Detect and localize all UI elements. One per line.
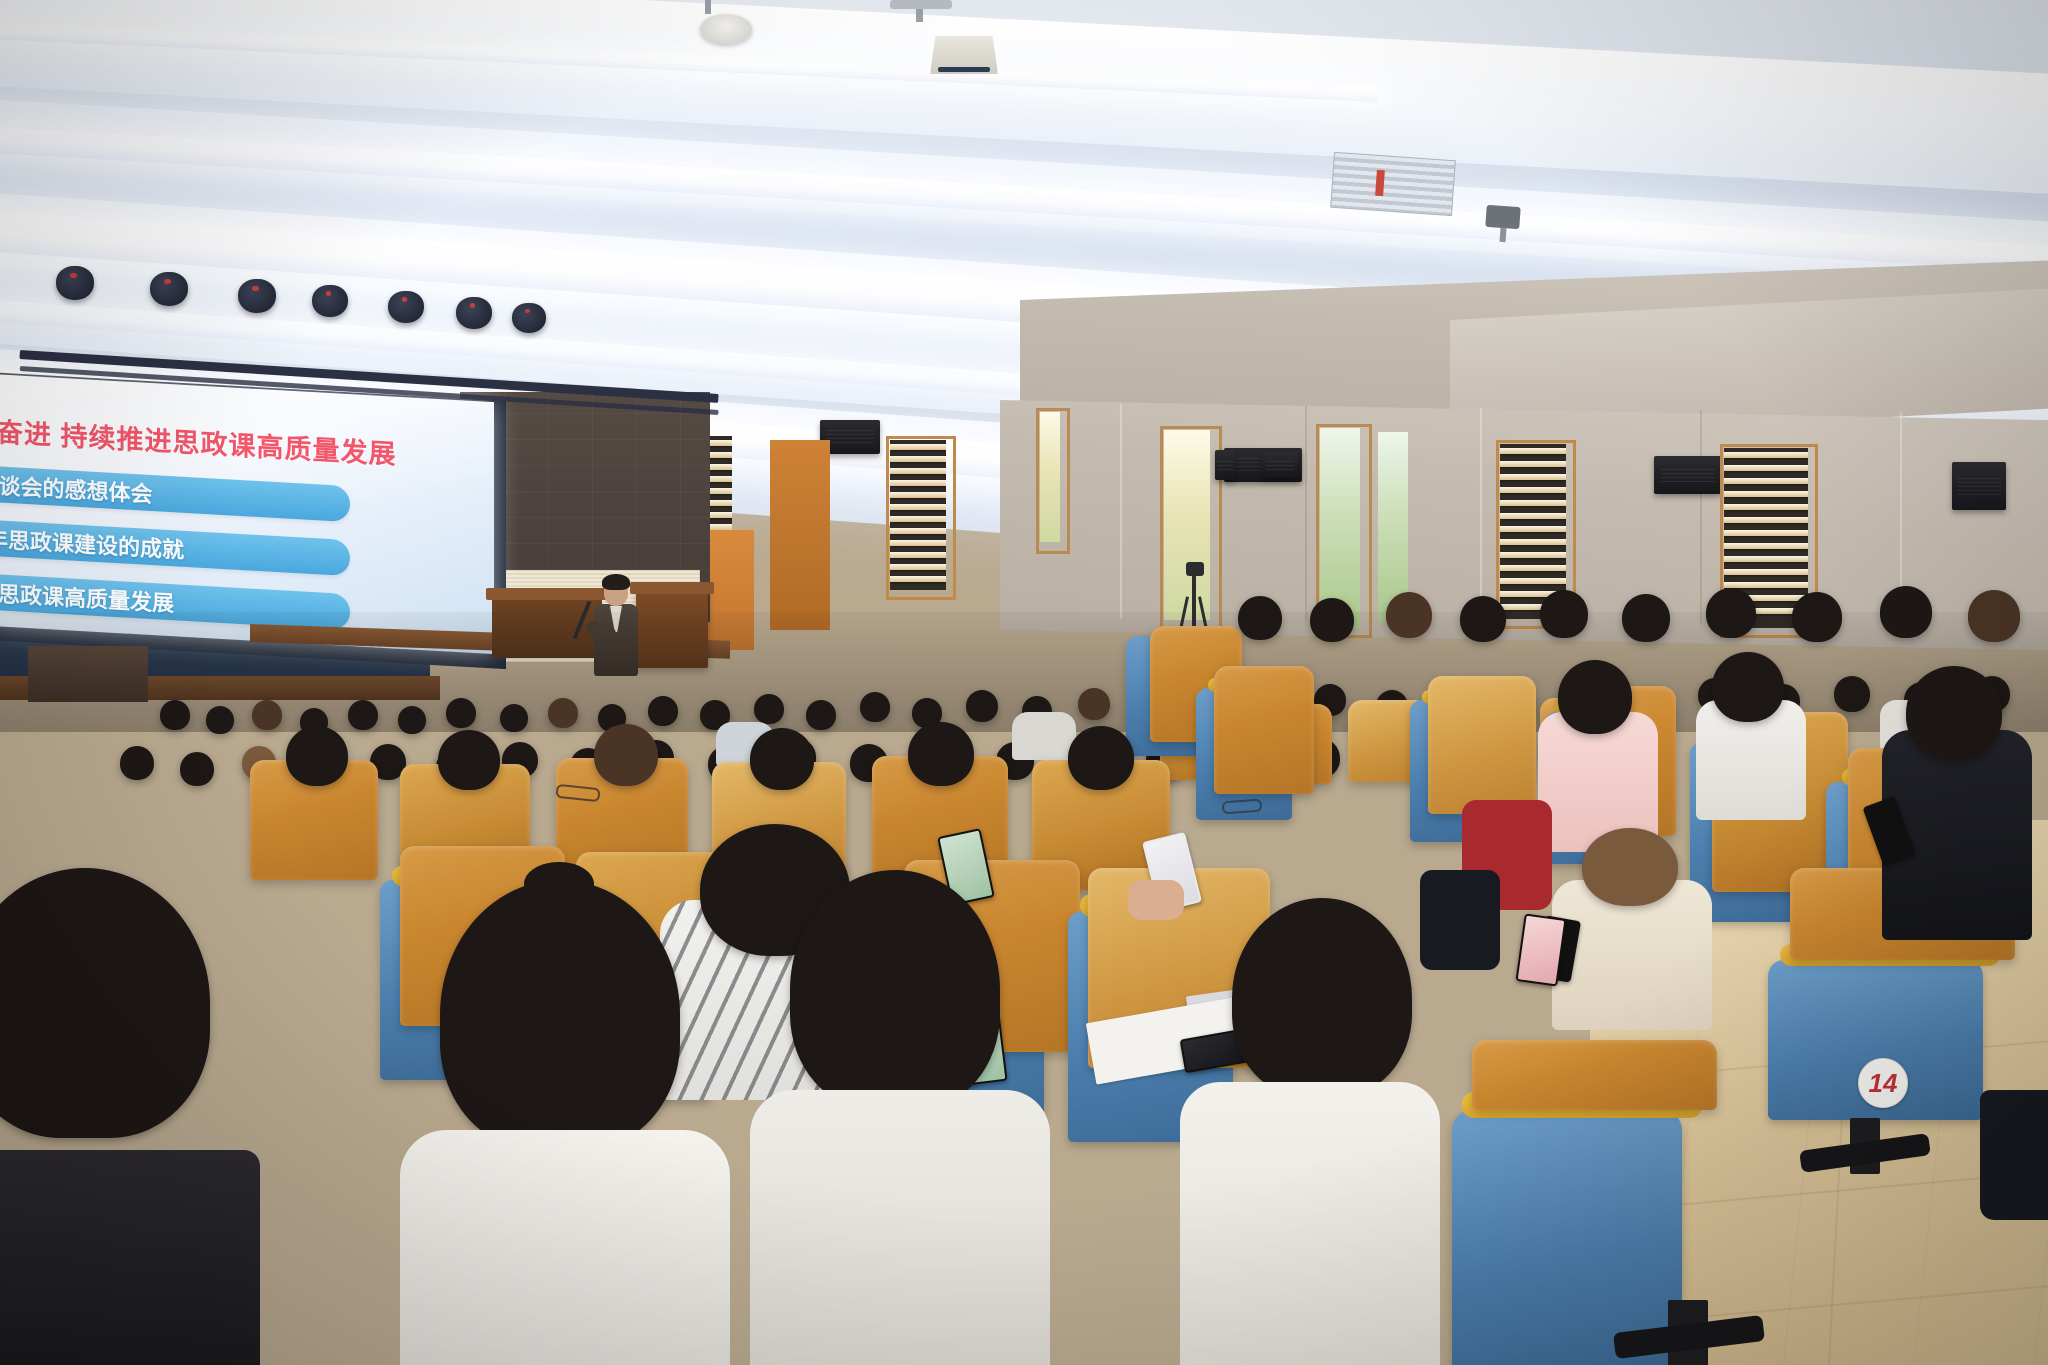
far-head	[548, 698, 578, 728]
audience-head	[1968, 590, 2020, 642]
audience-head	[1582, 828, 1678, 906]
audience-head	[1792, 592, 1842, 642]
foreground-torso-left	[0, 1150, 260, 1365]
wall-seam-d	[1700, 410, 1702, 625]
seat-number-badge: 14	[1858, 1058, 1908, 1108]
stage-side-desk-top	[486, 588, 608, 600]
audience-head	[1622, 594, 1670, 642]
audience-head	[1068, 726, 1134, 790]
far-head	[1834, 676, 1870, 712]
air-vent-icon	[1330, 152, 1456, 216]
far-head	[398, 706, 426, 734]
stage-light-4	[312, 285, 348, 317]
audience-head	[1460, 596, 1506, 642]
audience-head	[1706, 588, 1756, 638]
far-head-row2	[180, 752, 214, 786]
eyeglasses-icon	[1222, 799, 1263, 815]
far-head	[500, 704, 528, 732]
foreground-head-right	[790, 870, 1000, 1110]
presenter-hair	[602, 574, 630, 590]
projector-icon	[930, 36, 998, 74]
far-head	[966, 690, 998, 722]
audience-head	[1712, 652, 1784, 722]
foreground-head-left	[0, 868, 210, 1138]
phone-screen	[1518, 916, 1565, 985]
wall-speaker-6	[1215, 450, 1235, 480]
far-head	[754, 694, 784, 724]
wall-seam-c	[1480, 408, 1482, 623]
foreground-torso-right	[750, 1090, 1050, 1365]
ceiling-speaker-icon	[1485, 205, 1520, 229]
audience-head	[750, 728, 814, 790]
far-head	[446, 698, 476, 728]
stage-light-3	[238, 279, 276, 313]
podium-top	[630, 582, 714, 594]
audience-head	[1906, 666, 2002, 760]
stage-light-6	[456, 297, 492, 329]
audience-head	[1386, 592, 1432, 638]
audience-head	[908, 722, 974, 786]
stage-wood-panel-right	[770, 440, 830, 630]
backpack	[1980, 1090, 2048, 1220]
audience-head	[1238, 596, 1282, 640]
audience-head	[1880, 586, 1932, 638]
smoke-detector-icon	[700, 14, 752, 44]
seat-side-panel-foreground	[1452, 1110, 1682, 1365]
louver-frame-1	[886, 436, 956, 600]
far-head	[806, 700, 836, 730]
far-head	[348, 700, 378, 730]
audience-head	[1558, 660, 1632, 734]
far-head	[252, 700, 282, 730]
wall-speaker-3	[1654, 456, 1722, 494]
audience-head-with-clip	[1232, 898, 1412, 1098]
stage-light-7	[512, 303, 546, 333]
audience-head	[1540, 590, 1588, 638]
audience-head	[438, 730, 500, 790]
hair-bun	[524, 862, 594, 906]
far-head	[860, 692, 890, 722]
far-head	[1078, 688, 1110, 720]
far-torso	[1012, 712, 1076, 760]
stage-light-5	[388, 291, 424, 323]
audience-head	[1310, 598, 1354, 642]
wall-seam-b	[1305, 406, 1307, 621]
window-frame-1	[1036, 408, 1070, 554]
audience-head	[286, 726, 348, 786]
audience-torso-white-knit	[1180, 1082, 1440, 1365]
tripod-head	[1186, 562, 1204, 576]
far-head	[648, 696, 678, 726]
far-head-row2	[120, 746, 154, 780]
foreground-torso-center	[400, 1130, 730, 1365]
far-head	[206, 706, 234, 734]
stage-light-1	[56, 266, 94, 300]
seatback-foreground	[1472, 1040, 1717, 1110]
wall-seam-a	[1120, 404, 1122, 619]
lecture-hall-photo: 砺奋进 持续推进思政课高质量发展 18座谈会的感想体会 去五年思政课建设的成就 …	[0, 0, 2048, 1365]
projector-mount-plate	[890, 0, 952, 9]
far-head	[160, 700, 190, 730]
dark-backpack	[1420, 870, 1500, 970]
foreground-head-center	[440, 880, 680, 1150]
ceiling-sprinkler-icon	[1500, 228, 1507, 242]
window-frame-2	[1160, 426, 1222, 632]
hand-holding-phone	[1128, 880, 1184, 920]
wall-speaker-2	[1262, 452, 1298, 478]
seatback	[1428, 676, 1536, 814]
audience-head	[594, 724, 658, 786]
wall-speaker-4	[1952, 462, 2006, 510]
projector-mount-stem-2	[705, 0, 711, 14]
seatback	[1214, 666, 1314, 794]
stage-light-2	[150, 272, 188, 306]
